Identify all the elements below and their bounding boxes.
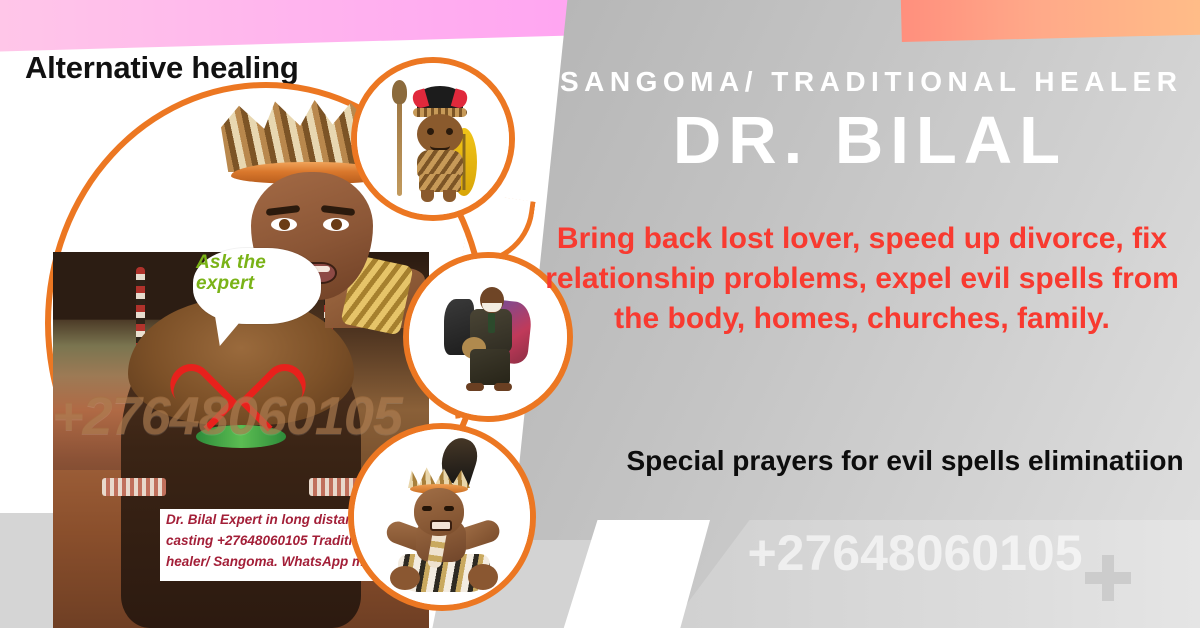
warrior-spear-tip: [392, 80, 407, 104]
crouching-warrior-illustration: [380, 454, 504, 594]
services-description: Bring back lost lover, speed up divorce,…: [534, 219, 1190, 340]
photo-armband-left: [102, 478, 166, 497]
healer-eye-right: [323, 218, 349, 231]
special-prayers-text: Special prayers for evil spells eliminat…: [620, 443, 1190, 480]
speech-bubble-text: Ask the expert: [196, 252, 326, 295]
warrior-headdress: [417, 86, 463, 110]
warrior-leg-right: [443, 190, 456, 202]
cloaked-healer-illustration: [440, 285, 536, 395]
healer-sandal-left: [466, 383, 484, 391]
circle-zulu-warrior-cartoon: [351, 57, 515, 221]
caption-line-3: healer/ Sangoma. WhatsApp me: [160, 551, 378, 572]
warrior-eye-left: [427, 128, 434, 135]
crouching-warrior-face: [414, 488, 464, 536]
warrior-spear: [397, 88, 402, 196]
poster-canvas: Alternative healing Ask the expert +: [0, 0, 1200, 628]
circle-3-inner: [354, 429, 530, 605]
crouching-warrior-eye-left: [422, 506, 432, 511]
photo-phone-watermark: +27648060105: [52, 385, 442, 447]
crouching-warrior-mouth: [430, 520, 452, 531]
healer-head-beard: [480, 287, 504, 313]
pink-banner-shape: [0, 0, 622, 52]
zulu-warrior-cartoon-illustration: [387, 84, 479, 200]
poster-subtitle: SANGOMA/ TRADITIONAL HEALER: [560, 66, 1180, 98]
caption-line-1: Dr. Bilal Expert in long distance: [160, 509, 378, 530]
poster-main-title: DR. BILAL: [560, 106, 1180, 176]
circle-crouching-warrior: [348, 423, 536, 611]
healer-eyebrow-right: [321, 205, 356, 216]
healer-tie: [488, 313, 495, 333]
circle-1-inner: [357, 63, 509, 215]
orange-banner-shape: [900, 0, 1200, 42]
healer-eyebrow-left: [266, 205, 301, 216]
crouching-warrior-eye-right: [444, 506, 454, 511]
photo-caption-box: Dr. Bilal Expert in long distance castin…: [160, 509, 378, 581]
healer-eye-left: [271, 218, 297, 231]
phone-watermark: +27648060105: [630, 524, 1200, 582]
crouching-warrior-knee-right: [468, 564, 498, 590]
warrior-leg-left: [421, 190, 434, 202]
page-title: Alternative healing: [25, 50, 299, 86]
crouching-warrior-knee-left: [390, 566, 420, 590]
healer-trousers: [470, 349, 510, 385]
caption-line-2: casting +27648060105 Traditional: [160, 530, 378, 551]
healer-sandal-right: [494, 383, 512, 391]
warrior-eye-right: [446, 128, 453, 135]
warrior-face: [417, 114, 463, 154]
